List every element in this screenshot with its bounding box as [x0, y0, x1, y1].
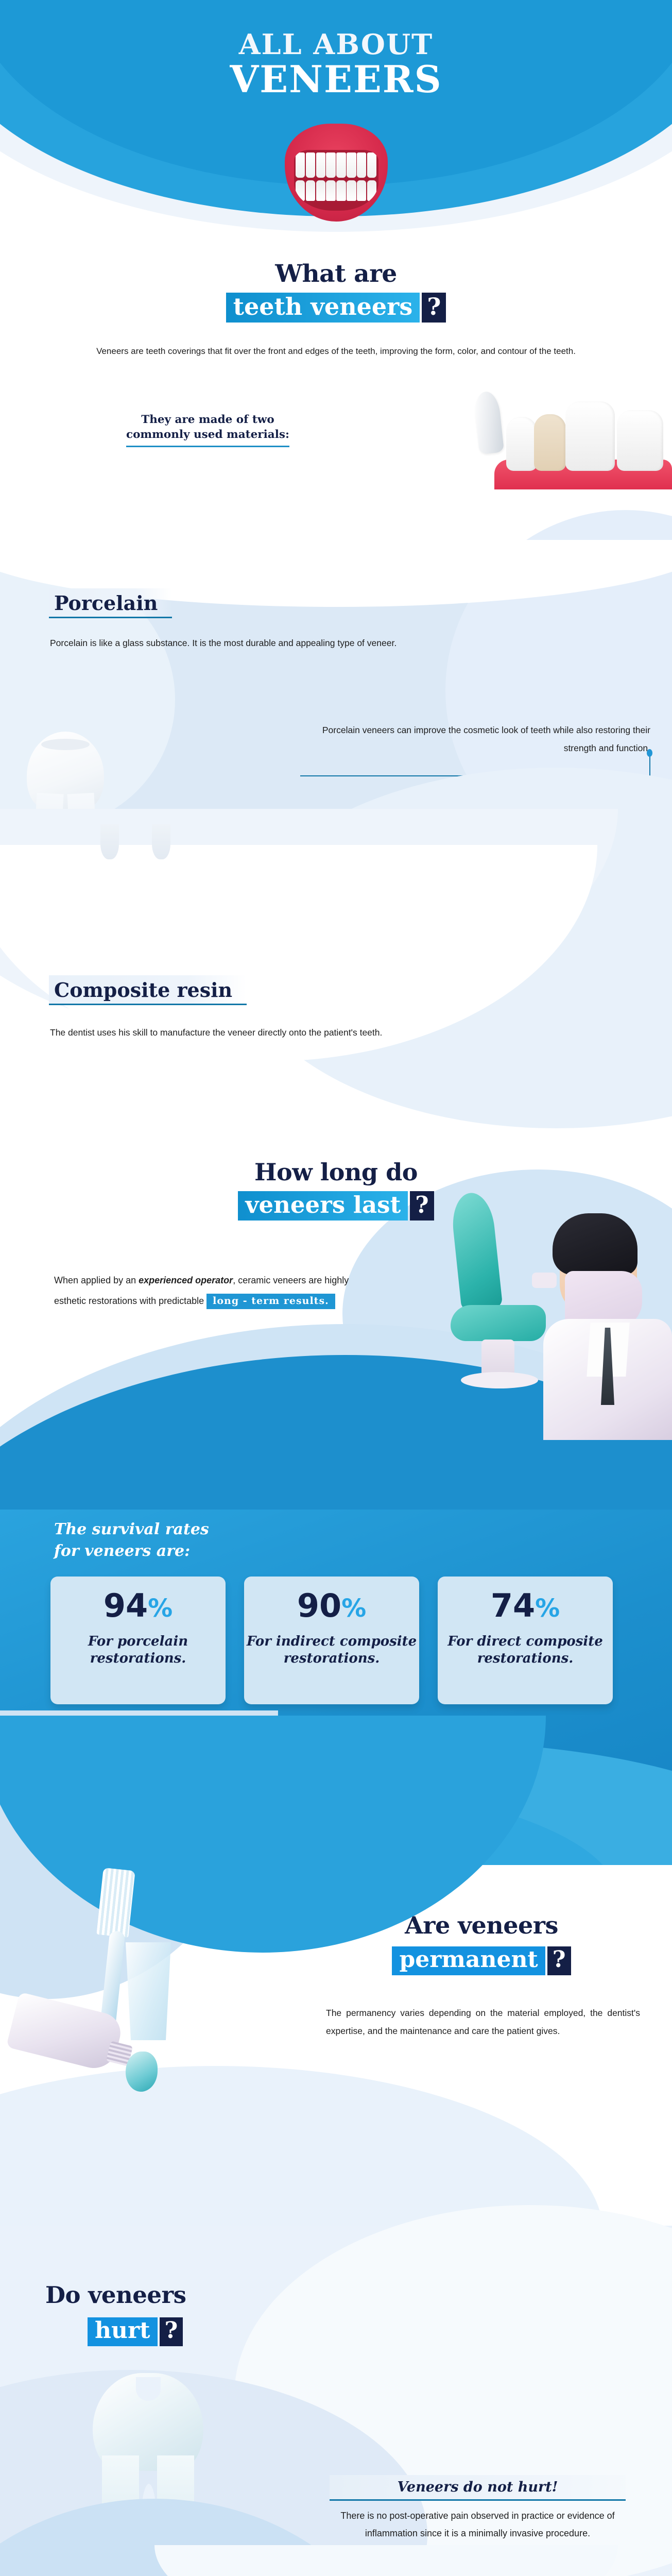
porcelain-heading: Porcelain: [49, 588, 172, 618]
how-long-body-text: When applied by an experienced operator,…: [54, 1270, 373, 1312]
veneer-on-teeth-illustration: [466, 392, 672, 489]
how-long-question-mark: ?: [410, 1191, 434, 1221]
composite-body-text: The dentist uses his skill to manufactur…: [50, 1024, 472, 1041]
toothbrush-bristles: [96, 1868, 135, 1938]
porcelain-callout-text: Porcelain veneers can improve the cosmet…: [300, 721, 650, 757]
permanent-title: Are veneers: [322, 1911, 641, 1939]
smiling-mouth-illustration: [285, 124, 388, 222]
what-title: What are: [0, 260, 672, 288]
how-long-results-highlight: long - term results.: [206, 1294, 335, 1309]
toothpaste-illustration: [11, 1994, 145, 2092]
tooth-root-tip-left: [100, 824, 119, 859]
what-question-chip: teeth veneers ?: [0, 293, 672, 323]
chair-foot: [461, 1372, 538, 1388]
callout-vertical-rule: [649, 754, 650, 776]
section-how-long: How long do veneers last ? When applied …: [0, 1149, 672, 1510]
hurt-question-mark: ?: [160, 2317, 183, 2346]
veneer-shell-icon: [473, 391, 504, 454]
stat-label-2: For direct composite restorations.: [438, 1633, 613, 1668]
dentist-illustration: [543, 1213, 672, 1440]
permanent-question-mark: ?: [547, 1946, 571, 1975]
what-question-mark: ?: [422, 293, 446, 323]
stat-label-0: For porcelain restorations.: [50, 1633, 226, 1668]
infographic-page: ALL ABOUT VENEERS What are teeth vene: [0, 0, 672, 2576]
lower-teeth-row: [296, 180, 376, 201]
mouth-interior: [294, 150, 378, 211]
toothpaste-tube: [6, 1992, 125, 2073]
tooth-groove: [41, 739, 90, 750]
chair-backrest: [450, 1191, 503, 1313]
stat-card: 90% For indirect composite restorations.: [244, 1577, 419, 1704]
dentist-hair: [553, 1213, 637, 1275]
stat-label-1: For indirect composite restorations.: [244, 1633, 419, 1668]
hurt-callout-heading: Veneers do not hurt!: [330, 2475, 626, 2501]
permanent-question-chip: permanent ?: [322, 1946, 641, 1975]
title-line-1: ALL ABOUT: [0, 30, 672, 59]
hurt-callout: Veneers do not hurt! There is no post-op…: [330, 2475, 626, 2542]
stat-value-0: 94%: [104, 1590, 173, 1622]
stat-card: 94% For porcelain restorations.: [50, 1577, 226, 1704]
hurt-highlight: hurt: [88, 2317, 158, 2346]
how-long-title: How long do: [0, 1158, 672, 1186]
made-of-materials-label: They are made of two commonly used mater…: [126, 412, 289, 447]
what-highlight: teeth veneers: [226, 293, 420, 323]
composite-heading: Composite resin: [49, 975, 247, 1005]
title-line-2: VENEERS: [0, 61, 672, 98]
what-body-text: Veneers are teeth coverings that fit ove…: [0, 343, 672, 360]
survival-rates-heading: The survival rates for veneers are:: [54, 1519, 209, 1562]
how-long-body-bold: experienced operator: [139, 1275, 233, 1285]
section-permanent: Are veneers permanent ? The permanency v…: [0, 1865, 672, 2226]
tooth-3: [565, 401, 615, 471]
tooth-2-discolored: [534, 414, 566, 471]
hurt-tooth-notch: [136, 2377, 161, 2401]
hurt-question-chip: hurt ?: [88, 2317, 183, 2346]
permanent-body-text: The permanency varies depending on the m…: [326, 2004, 640, 2040]
porcelain-body-text: Porcelain is like a glass substance. It …: [50, 635, 472, 652]
chair-seat: [451, 1305, 546, 1341]
hurt-title: Do veneers: [45, 2281, 186, 2309]
hero-header: ALL ABOUT VENEERS: [0, 0, 672, 242]
permanent-highlight: permanent: [392, 1946, 545, 1975]
stat-card: 74% For direct composite restorations.: [438, 1577, 613, 1704]
section-composite-resin: Composite resin The dentist uses his ski…: [0, 829, 672, 1149]
callout-dot-marker: [647, 749, 652, 757]
section-what-are-veneers: What are teeth veneers ? Veneers are tee…: [0, 242, 672, 541]
stat-value-2: 74%: [491, 1590, 560, 1622]
tooth-root-tip-right: [152, 824, 170, 859]
hurt-callout-body: There is no post-operative pain observed…: [330, 2507, 626, 2542]
survival-rate-cards: 94% For porcelain restorations. 90% For …: [50, 1577, 632, 1704]
stat-value-1: 90%: [297, 1590, 366, 1622]
tooth-1: [506, 417, 537, 471]
how-long-highlight: veneers last: [238, 1191, 408, 1221]
tooth-4: [617, 410, 663, 471]
how-long-body-part1: When applied by an: [54, 1275, 139, 1285]
upper-teeth-row: [296, 152, 376, 178]
whiten-white-top: [154, 2545, 618, 2576]
